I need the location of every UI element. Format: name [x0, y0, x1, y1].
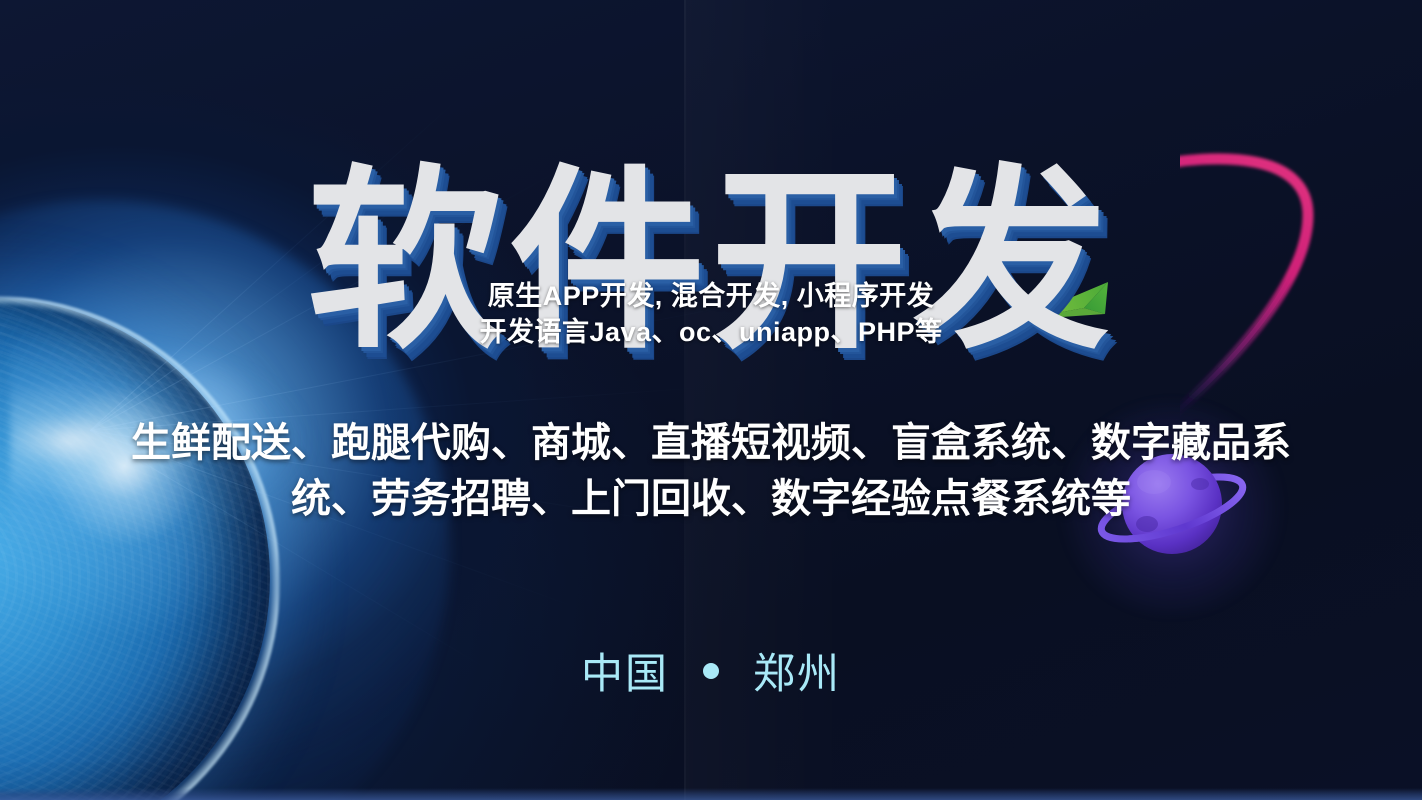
- location-footer: 中国 郑州: [0, 640, 1422, 701]
- footer-country: 中国: [581, 640, 669, 701]
- subtitle-block: 原生APP开发, 混合开发, 小程序开发 开发语言Java、oc、uniapp、…: [0, 278, 1422, 350]
- dot-icon: [703, 663, 719, 679]
- bottom-light-band: [0, 788, 1422, 800]
- subtitle-line-2: 开发语言Java、oc、uniapp、PHP等: [0, 314, 1422, 350]
- service-list-line-2: 统、劳务招聘、上门回收、数字经验点餐系统等: [120, 471, 1302, 527]
- footer-city: 郑州: [753, 640, 841, 701]
- service-list-block: 生鲜配送、跑腿代购、商城、直播短视频、盲盒系统、数字藏品系 统、劳务招聘、上门回…: [120, 415, 1302, 527]
- subtitle-line-1: 原生APP开发, 混合开发, 小程序开发: [0, 278, 1422, 314]
- poster-canvas: 软件开发 原生APP开发, 混合开发, 小程序开发 开发语言Java、oc、un…: [0, 0, 1422, 800]
- service-list-line-1: 生鲜配送、跑腿代购、商城、直播短视频、盲盒系统、数字藏品系: [120, 415, 1302, 471]
